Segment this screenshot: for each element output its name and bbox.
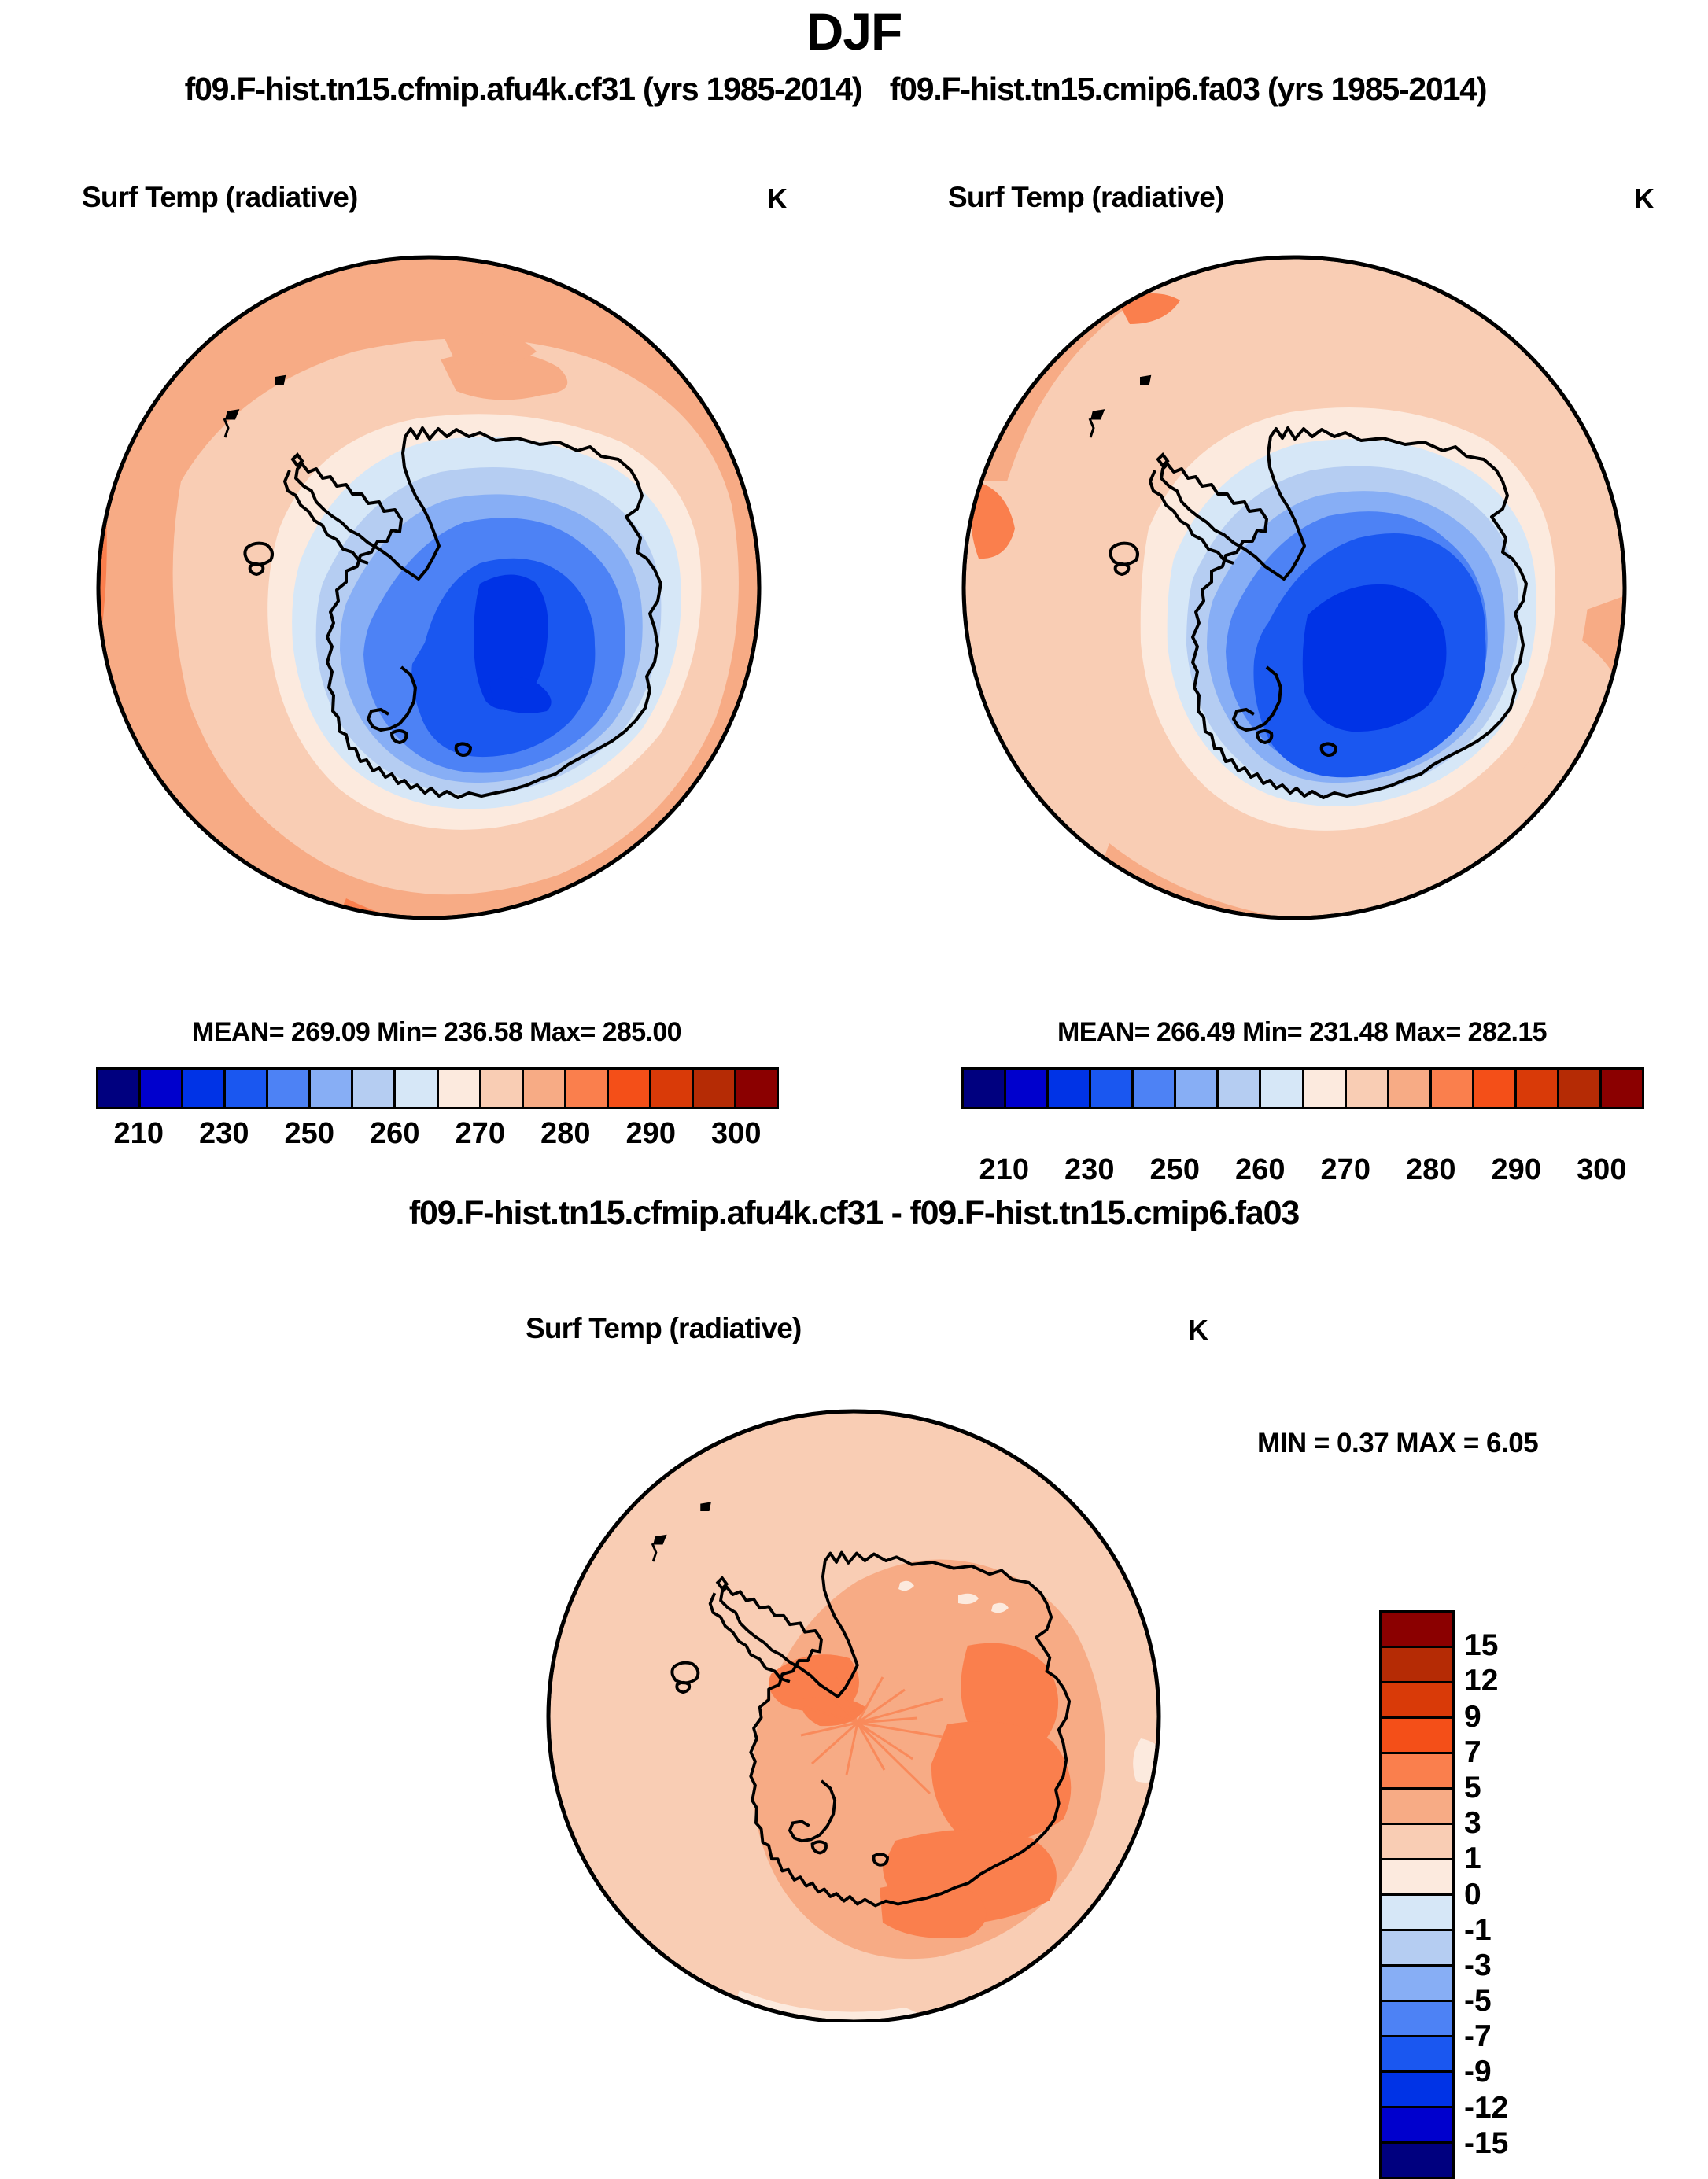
colorbar-tick-label: 3 <box>1464 1806 1481 1841</box>
colorbar-segment <box>1382 2144 1452 2177</box>
colorbar-segment <box>1382 2108 1452 2144</box>
page-title: DJF <box>0 2 1708 61</box>
colorbar-tick-label: 9 <box>1464 1700 1481 1735</box>
colorbar-tick-label: 250 <box>285 1117 334 1151</box>
polar-map-left[interactable] <box>87 245 771 930</box>
colorbar-tick-label: 290 <box>1492 1153 1541 1187</box>
colorbar-tick-label: 270 <box>456 1117 505 1151</box>
colorbar-segment <box>1049 1070 1091 1107</box>
unit-label-right: K <box>1634 183 1655 216</box>
colorbar-segment <box>1382 1967 1452 2002</box>
colorbar-tick-label: 15 <box>1464 1628 1498 1663</box>
colorbar-segment <box>524 1070 566 1107</box>
colorbar-segment <box>1382 1931 1452 1967</box>
colorbar-segment <box>1382 1896 1452 1931</box>
colorbar-segment <box>964 1070 1006 1107</box>
colorbar-tick-label: -15 <box>1464 2126 1508 2161</box>
polar-map-right-svg <box>952 245 1636 930</box>
colorbar-segment <box>1382 1860 1452 1896</box>
colorbar-tick-label: -12 <box>1464 2091 1508 2126</box>
colorbar-tick-label: 1 <box>1464 1842 1481 1876</box>
colorbar-segment <box>1602 1070 1642 1107</box>
colorbar-tick-label: 230 <box>199 1117 249 1151</box>
colorbar-segment <box>1382 1683 1452 1719</box>
colorbar-tick-label: 210 <box>979 1153 1029 1187</box>
colorbar-segment <box>1304 1070 1347 1107</box>
colorbar-tick-label: 7 <box>1464 1735 1481 1770</box>
minmax-diff: MIN = 0.37 MAX = 6.05 <box>1257 1428 1538 1459</box>
colorbar-segment <box>1176 1070 1219 1107</box>
diff-panel-title: f09.F-hist.tn15.cfmip.afu4k.cf31 - f09.F… <box>0 1194 1708 1233</box>
colorbar-segment <box>1382 1648 1452 1683</box>
colorbar-tick-label: 290 <box>626 1117 676 1151</box>
polar-map-right[interactable] <box>952 245 1636 930</box>
colorbar-tick-label: 12 <box>1464 1664 1498 1698</box>
colorbar-tick-label: 260 <box>370 1117 419 1151</box>
colorbar-segment <box>1382 1754 1452 1790</box>
colorbar-segment <box>651 1070 694 1107</box>
colorbar-segment <box>1261 1070 1304 1107</box>
colorbar-right[interactable] <box>961 1067 1644 1109</box>
colorbar-diff-ticks: 1512975310-1-3-5-7-9-12-15 <box>1464 1610 1598 2179</box>
colorbar-tick-label: 230 <box>1064 1153 1114 1187</box>
colorbar-segment <box>1006 1070 1049 1107</box>
colorbar-segment <box>1382 2073 1452 2108</box>
colorbar-segment <box>609 1070 651 1107</box>
colorbar-segment <box>183 1070 226 1107</box>
colorbar-tick-label: 5 <box>1464 1771 1481 1805</box>
colorbar-tick-label: -9 <box>1464 2055 1492 2089</box>
colorbar-segment <box>98 1070 141 1107</box>
colorbar-tick-label: 300 <box>711 1117 761 1151</box>
colorbar-tick-label: 250 <box>1150 1153 1200 1187</box>
colorbar-tick-label: 280 <box>540 1117 590 1151</box>
colorbar-segment <box>226 1070 268 1107</box>
colorbar-segment <box>1091 1070 1134 1107</box>
colorbar-diff[interactable] <box>1379 1610 1455 2179</box>
colorbar-segment <box>396 1070 438 1107</box>
unit-label-diff: K <box>1188 1314 1208 1347</box>
colorbar-segment <box>694 1070 736 1107</box>
polar-map-diff-svg <box>527 1369 1180 2022</box>
colorbar-segment <box>439 1070 481 1107</box>
colorbar-segment <box>1382 1790 1452 1825</box>
colorbar-segment <box>1382 2002 1452 2037</box>
variable-label-right: Surf Temp (radiative) <box>948 181 1224 214</box>
colorbar-segment <box>1517 1070 1559 1107</box>
colorbar-tick-label: 210 <box>114 1117 164 1151</box>
stats-left: MEAN= 269.09 Min= 236.58 Max= 285.00 <box>47 1017 826 1048</box>
colorbar-segment <box>1382 1613 1452 1648</box>
colorbar-tick-label: -7 <box>1464 2019 1492 2054</box>
colorbar-tick-label: -5 <box>1464 1984 1492 2019</box>
colorbar-segment <box>1382 1719 1452 1754</box>
stats-right: MEAN= 266.49 Min= 231.48 Max= 282.15 <box>913 1017 1691 1048</box>
colorbar-left-ticks: 210230250260270280290300 <box>96 1117 779 1153</box>
polar-map-left-svg <box>87 245 771 930</box>
colorbar-segment <box>736 1070 777 1107</box>
colorbar-segment <box>268 1070 311 1107</box>
colorbar-left[interactable] <box>96 1067 779 1109</box>
colorbar-segment <box>141 1070 183 1107</box>
colorbar-segment <box>566 1070 609 1107</box>
colorbar-tick-label: -1 <box>1464 1913 1492 1948</box>
panel-title-right: f09.F-hist.tn15.cmip6.fa03 (yrs 1985-201… <box>665 71 1708 108</box>
colorbar-tick-label: 260 <box>1235 1153 1285 1187</box>
colorbar-segment <box>1559 1070 1602 1107</box>
colorbar-segment <box>481 1070 524 1107</box>
colorbar-segment <box>1347 1070 1389 1107</box>
colorbar-segment <box>1474 1070 1517 1107</box>
colorbar-tick-label: 300 <box>1577 1153 1626 1187</box>
variable-label-diff: Surf Temp (radiative) <box>526 1312 802 1345</box>
colorbar-segment <box>1382 2037 1452 2073</box>
colorbar-segment <box>1134 1070 1176 1107</box>
variable-label-left: Surf Temp (radiative) <box>82 181 358 214</box>
colorbar-tick-label: 0 <box>1464 1878 1481 1912</box>
colorbar-segment <box>311 1070 353 1107</box>
colorbar-diff-wrap: 1512975310-1-3-5-7-9-12-15 <box>1379 1610 1607 2179</box>
colorbar-tick-label: -3 <box>1464 1949 1492 1983</box>
colorbar-segment <box>353 1070 396 1107</box>
colorbar-tick-label: 280 <box>1406 1153 1455 1187</box>
colorbar-right-ticks: 210230250260270280290300 <box>961 1153 1644 1189</box>
colorbar-tick-label: 270 <box>1321 1153 1370 1187</box>
colorbar-segment <box>1382 1825 1452 1860</box>
colorbar-segment <box>1432 1070 1474 1107</box>
unit-label-left: K <box>767 183 788 216</box>
polar-map-diff[interactable] <box>527 1369 1180 2022</box>
colorbar-segment <box>1219 1070 1261 1107</box>
colorbar-segment <box>1389 1070 1432 1107</box>
